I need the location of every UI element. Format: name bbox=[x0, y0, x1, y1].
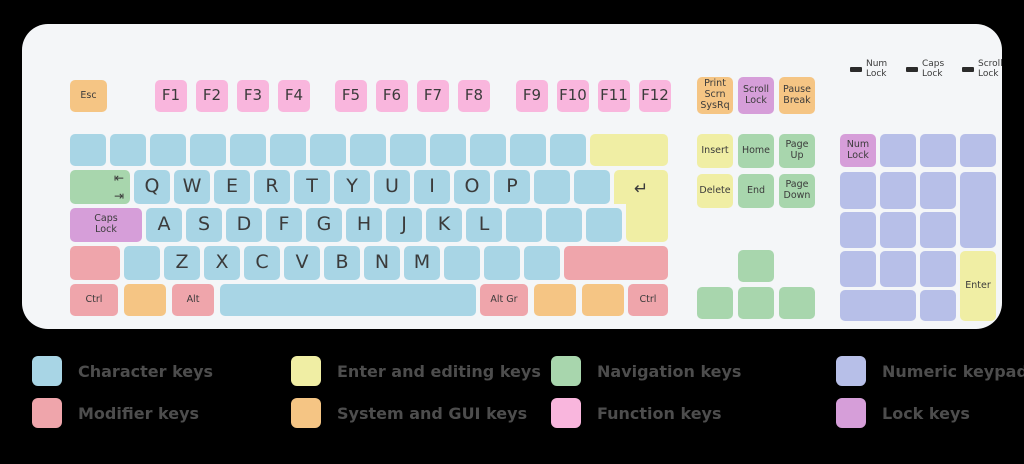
key-letter-s-label: S bbox=[186, 208, 222, 242]
key-digit-5[interactable] bbox=[270, 134, 306, 166]
key-letter-i-label: I bbox=[414, 170, 450, 204]
key-f1-label: F1 bbox=[155, 80, 187, 112]
num-lock-led-lamp-icon bbox=[850, 67, 862, 72]
key-super-left[interactable] bbox=[124, 284, 166, 316]
key-letter-c[interactable]: C bbox=[244, 246, 280, 280]
key-ctrl-left-label: Ctrl bbox=[70, 284, 118, 316]
key-numpad-decimal[interactable] bbox=[920, 290, 956, 321]
key-numpad-enter-label: Enter bbox=[960, 251, 996, 321]
key-super-right-label bbox=[534, 284, 576, 316]
key-backspace-arrow-icon bbox=[590, 134, 668, 166]
key-letter-l-label: L bbox=[466, 208, 502, 242]
key-f10-label: F10 bbox=[557, 80, 589, 112]
key-digit-3[interactable] bbox=[190, 134, 226, 166]
num-lock-led-label: Num Lock bbox=[866, 60, 887, 80]
scroll-lock-led-lamp-icon bbox=[962, 67, 974, 72]
key-digit-4[interactable] bbox=[230, 134, 266, 166]
key-arrow-right[interactable] bbox=[779, 287, 815, 319]
key-scroll-lock-label: ScrollLock bbox=[738, 77, 774, 114]
key-letter-o[interactable]: O bbox=[454, 170, 490, 204]
key-numpad-0[interactable] bbox=[840, 290, 916, 321]
key-f7-label: F7 bbox=[417, 80, 449, 112]
key-equals[interactable] bbox=[550, 134, 586, 166]
key-numpad-enter[interactable]: Enter bbox=[960, 251, 996, 321]
key-letter-w-label: W bbox=[174, 170, 210, 204]
key-f9[interactable]: F9 bbox=[516, 80, 548, 112]
key-alt-left-label: Alt bbox=[172, 284, 214, 316]
key-letter-m[interactable]: M bbox=[404, 246, 440, 280]
key-numpad-6[interactable] bbox=[920, 212, 956, 248]
key-letter-h-label: H bbox=[346, 208, 382, 242]
key-f12[interactable]: F12 bbox=[639, 80, 671, 112]
legend-swatch bbox=[551, 398, 581, 428]
key-letter-b-label: B bbox=[324, 246, 360, 280]
key-f10[interactable]: F10 bbox=[557, 80, 589, 112]
key-backspace[interactable] bbox=[590, 134, 668, 166]
legend-label: System and GUI keys bbox=[337, 404, 527, 423]
legend-item-numeric-keypad: Numeric keypad bbox=[836, 356, 1024, 386]
key-letter-d-label: D bbox=[226, 208, 262, 242]
key-f2-label: F2 bbox=[196, 80, 228, 112]
key-f2[interactable]: F2 bbox=[196, 80, 228, 112]
key-apostrophe[interactable] bbox=[546, 208, 582, 242]
key-f8-label: F8 bbox=[458, 80, 490, 112]
key-letter-c-label: C bbox=[244, 246, 280, 280]
key-numpad-subtract[interactable] bbox=[960, 134, 996, 167]
key-arrow-down-arrow-icon bbox=[738, 287, 774, 319]
key-super-left-label bbox=[124, 284, 166, 316]
key-page-up[interactable]: PageUp bbox=[779, 134, 815, 168]
key-alt-gr-label: Alt Gr bbox=[480, 284, 528, 316]
enter-arrow-icon: ↵ bbox=[634, 179, 648, 199]
key-letter-u-label: U bbox=[374, 170, 410, 204]
key-esc[interactable]: Esc bbox=[70, 80, 107, 112]
key-letter-q[interactable]: Q bbox=[134, 170, 170, 204]
key-pause-break[interactable]: PauseBreak bbox=[779, 77, 815, 114]
key-letter-u[interactable]: U bbox=[374, 170, 410, 204]
key-print-screen[interactable]: PrintScrnSysRq bbox=[697, 77, 733, 114]
legend-swatch bbox=[551, 356, 581, 386]
key-home-label: Home bbox=[738, 134, 774, 168]
key-letter-m-label: M bbox=[404, 246, 440, 280]
key-numpad-add-legend bbox=[960, 172, 996, 248]
key-letter-n-label: N bbox=[364, 246, 400, 280]
key-letter-p-label: P bbox=[494, 170, 530, 204]
key-letter-e[interactable]: E bbox=[214, 170, 250, 204]
key-f4[interactable]: F4 bbox=[278, 80, 310, 112]
key-menu[interactable] bbox=[582, 284, 624, 316]
key-num-lock[interactable]: NumLock bbox=[840, 134, 876, 167]
key-letter-j[interactable]: J bbox=[386, 208, 422, 242]
key-slash[interactable] bbox=[524, 246, 560, 280]
legend-label: Numeric keypad bbox=[882, 362, 1024, 381]
key-numpad-add[interactable] bbox=[960, 172, 996, 248]
caps-lock-led-label: Caps Lock bbox=[922, 60, 944, 80]
legend-item-function-keys: Function keys bbox=[551, 398, 722, 428]
legend-swatch bbox=[836, 398, 866, 428]
category-legend: Character keysModifier keysEnter and edi… bbox=[0, 346, 1024, 456]
key-shift-left[interactable] bbox=[70, 246, 120, 280]
num-lock-led: Num Lock bbox=[850, 60, 887, 80]
legend-label: Lock keys bbox=[882, 404, 970, 423]
key-letter-x-label: X bbox=[204, 246, 240, 280]
key-comma[interactable] bbox=[444, 246, 480, 280]
key-letter-k-label: K bbox=[426, 208, 462, 242]
key-insert[interactable]: Insert bbox=[697, 134, 733, 168]
key-arrow-left[interactable] bbox=[697, 287, 733, 319]
key-arrow-up[interactable] bbox=[738, 250, 774, 282]
key-end[interactable]: End bbox=[738, 174, 774, 208]
key-numpad-8[interactable] bbox=[880, 172, 916, 209]
key-bracket-right[interactable] bbox=[574, 170, 610, 204]
key-letter-r-label: R bbox=[254, 170, 290, 204]
key-hash[interactable] bbox=[586, 208, 622, 242]
key-letter-b[interactable]: B bbox=[324, 246, 360, 280]
key-numpad-5[interactable] bbox=[880, 212, 916, 248]
legend-label: Navigation keys bbox=[597, 362, 741, 381]
key-ctrl-right-label: Ctrl bbox=[628, 284, 668, 316]
key-scroll-lock[interactable]: ScrollLock bbox=[738, 77, 774, 114]
key-letter-x[interactable]: X bbox=[204, 246, 240, 280]
key-numpad-9[interactable] bbox=[920, 172, 956, 209]
scroll-lock-led: Scroll Lock bbox=[962, 60, 1003, 80]
key-letter-r[interactable]: R bbox=[254, 170, 290, 204]
key-f11-label: F11 bbox=[598, 80, 630, 112]
key-letter-z[interactable]: Z bbox=[164, 246, 200, 280]
key-letter-a-label: A bbox=[146, 208, 182, 242]
key-digit-1[interactable] bbox=[110, 134, 146, 166]
key-digit-8[interactable] bbox=[390, 134, 426, 166]
key-digit-2[interactable] bbox=[150, 134, 186, 166]
key-delete-label: Delete bbox=[697, 174, 733, 208]
key-numpad-multiply[interactable] bbox=[920, 134, 956, 167]
keyboard-diagram: EscF1F2F3F4F5F6F7F8F9F10F11F12PrintScrnS… bbox=[0, 0, 1024, 464]
key-shift-right[interactable] bbox=[564, 246, 668, 280]
key-letter-f[interactable]: F bbox=[266, 208, 302, 242]
key-arrow-left-arrow-icon bbox=[697, 287, 733, 319]
legend-item-navigation-keys: Navigation keys bbox=[551, 356, 741, 386]
key-letter-g[interactable]: G bbox=[306, 208, 342, 242]
key-semicolon[interactable] bbox=[506, 208, 542, 242]
key-letter-k[interactable]: K bbox=[426, 208, 462, 242]
key-numpad-2[interactable] bbox=[880, 251, 916, 287]
key-letter-t-label: T bbox=[294, 170, 330, 204]
key-letter-i[interactable]: I bbox=[414, 170, 450, 204]
key-pause-break-label: PauseBreak bbox=[779, 77, 815, 114]
legend-label: Function keys bbox=[597, 404, 722, 423]
key-letter-z-label: Z bbox=[164, 246, 200, 280]
key-numpad-1[interactable] bbox=[840, 251, 876, 287]
key-letter-n[interactable]: N bbox=[364, 246, 400, 280]
scroll-lock-led-label: Scroll Lock bbox=[978, 60, 1003, 80]
key-space[interactable] bbox=[220, 284, 476, 316]
legend-swatch bbox=[32, 398, 62, 428]
key-numpad-3[interactable] bbox=[920, 251, 956, 287]
key-letter-l[interactable]: L bbox=[466, 208, 502, 242]
key-super-right[interactable] bbox=[534, 284, 576, 316]
key-letter-e-label: E bbox=[214, 170, 250, 204]
key-page-down[interactable]: PageDown bbox=[779, 174, 815, 208]
key-letter-f-label: F bbox=[266, 208, 302, 242]
key-insert-label: Insert bbox=[697, 134, 733, 168]
key-f7[interactable]: F7 bbox=[417, 80, 449, 112]
caps-lock-led-lamp-icon bbox=[906, 67, 918, 72]
key-f12-label: F12 bbox=[639, 80, 671, 112]
key-space-label bbox=[220, 284, 476, 316]
key-enter-lower[interactable] bbox=[626, 204, 668, 242]
key-f3[interactable]: F3 bbox=[237, 80, 269, 112]
key-letter-v[interactable]: V bbox=[284, 246, 320, 280]
key-page-down-label: PageDown bbox=[779, 174, 815, 208]
key-tab[interactable]: ⇤⇥ bbox=[70, 170, 130, 204]
key-letter-p[interactable]: P bbox=[494, 170, 530, 204]
key-letter-a[interactable]: A bbox=[146, 208, 182, 242]
key-caps-lock[interactable]: CapsLock bbox=[70, 208, 142, 242]
key-ctrl-right[interactable]: Ctrl bbox=[628, 284, 668, 316]
key-minus[interactable] bbox=[510, 134, 546, 166]
key-shift-right-arrow-icon bbox=[564, 246, 668, 280]
key-f1[interactable]: F1 bbox=[155, 80, 187, 112]
keyboard-chassis: EscF1F2F3F4F5F6F7F8F9F10F11F12PrintScrnS… bbox=[22, 24, 1002, 329]
key-letter-o-label: O bbox=[454, 170, 490, 204]
key-numpad-divide[interactable] bbox=[880, 134, 916, 167]
key-delete[interactable]: Delete bbox=[697, 174, 733, 208]
key-period[interactable] bbox=[484, 246, 520, 280]
key-digit-6[interactable] bbox=[310, 134, 346, 166]
key-num-lock-label: NumLock bbox=[840, 134, 876, 167]
key-arrow-down[interactable] bbox=[738, 287, 774, 319]
key-f8[interactable]: F8 bbox=[458, 80, 490, 112]
legend-item-character-keys: Character keys bbox=[32, 356, 213, 386]
legend-swatch bbox=[836, 356, 866, 386]
legend-label: Character keys bbox=[78, 362, 213, 381]
key-letter-t[interactable]: T bbox=[294, 170, 330, 204]
key-f3-label: F3 bbox=[237, 80, 269, 112]
key-letter-d[interactable]: D bbox=[226, 208, 262, 242]
key-letter-w[interactable]: W bbox=[174, 170, 210, 204]
key-f5-label: F5 bbox=[335, 80, 367, 112]
legend-item-modifier-keys: Modifier keys bbox=[32, 398, 199, 428]
key-page-up-label: PageUp bbox=[779, 134, 815, 168]
legend-label: Enter and editing keys bbox=[337, 362, 541, 381]
key-letter-s[interactable]: S bbox=[186, 208, 222, 242]
key-backtick[interactable] bbox=[70, 134, 106, 166]
legend-swatch bbox=[291, 356, 321, 386]
key-shift-left-arrow-icon bbox=[70, 246, 120, 280]
key-letter-y[interactable]: Y bbox=[334, 170, 370, 204]
tab-back-arrow-icon: ⇤ bbox=[114, 172, 124, 185]
legend-swatch bbox=[291, 398, 321, 428]
key-f5[interactable]: F5 bbox=[335, 80, 367, 112]
key-f4-label: F4 bbox=[278, 80, 310, 112]
key-end-label: End bbox=[738, 174, 774, 208]
key-f9-label: F9 bbox=[516, 80, 548, 112]
key-ctrl-left[interactable]: Ctrl bbox=[70, 284, 118, 316]
caps-lock-led: Caps Lock bbox=[906, 60, 944, 80]
key-numpad-4[interactable] bbox=[840, 212, 876, 248]
key-letter-q-label: Q bbox=[134, 170, 170, 204]
key-arrow-up-arrow-icon bbox=[738, 250, 774, 282]
legend-item-system-and-gui-keys: System and GUI keys bbox=[291, 398, 527, 428]
key-f6-label: F6 bbox=[376, 80, 408, 112]
key-print-screen-label: PrintScrnSysRq bbox=[697, 77, 733, 114]
key-f11[interactable]: F11 bbox=[598, 80, 630, 112]
key-menu-label bbox=[582, 284, 624, 316]
legend-item-lock-keys: Lock keys bbox=[836, 398, 970, 428]
legend-label: Modifier keys bbox=[78, 404, 199, 423]
tab-forward-arrow-icon: ⇥ bbox=[114, 190, 124, 203]
key-letter-v-label: V bbox=[284, 246, 320, 280]
key-alt-left[interactable]: Alt bbox=[172, 284, 214, 316]
legend-item-enter-and-editing-keys: Enter and editing keys bbox=[291, 356, 541, 386]
key-digit-7[interactable] bbox=[350, 134, 386, 166]
key-letter-h[interactable]: H bbox=[346, 208, 382, 242]
key-arrow-right-arrow-icon bbox=[779, 287, 815, 319]
key-letter-y-label: Y bbox=[334, 170, 370, 204]
key-letter-j-label: J bbox=[386, 208, 422, 242]
key-digit-9[interactable] bbox=[430, 134, 466, 166]
key-caps-lock-label: CapsLock bbox=[70, 208, 142, 242]
legend-swatch bbox=[32, 356, 62, 386]
key-alt-gr[interactable]: Alt Gr bbox=[480, 284, 528, 316]
key-f6[interactable]: F6 bbox=[376, 80, 408, 112]
key-digit-0[interactable] bbox=[470, 134, 506, 166]
key-home[interactable]: Home bbox=[738, 134, 774, 168]
key-letter-g-label: G bbox=[306, 208, 342, 242]
key-numpad-7[interactable] bbox=[840, 172, 876, 209]
key-backslash[interactable] bbox=[124, 246, 160, 280]
key-esc-label: Esc bbox=[70, 80, 107, 112]
key-bracket-left[interactable] bbox=[534, 170, 570, 204]
